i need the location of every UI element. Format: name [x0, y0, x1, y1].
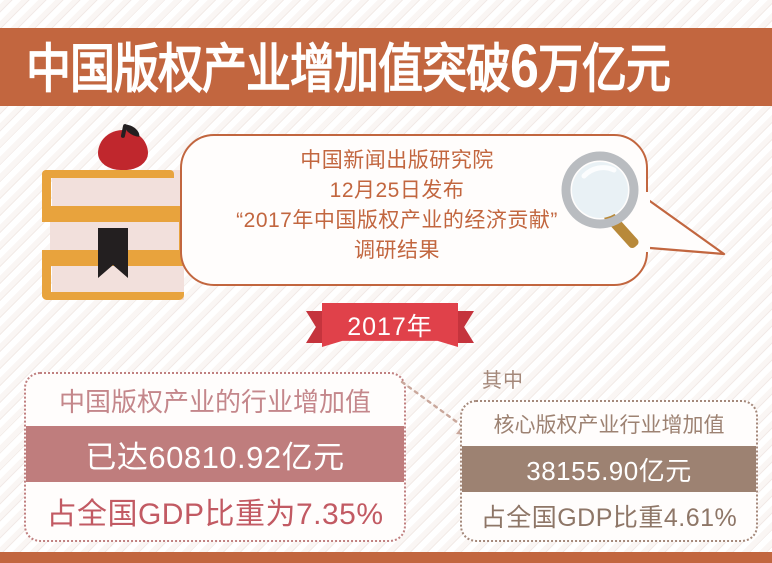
year-ribbon: 2017年	[306, 303, 474, 355]
bubble-line-2: 12月25日发布	[182, 176, 612, 206]
page-title: 中国版权产业增加值突破6万亿元	[26, 36, 670, 97]
book-top	[42, 170, 192, 214]
title-number: 6	[510, 33, 538, 101]
card-total-copyright-industry: 中国版权产业的行业增加值 已达60810.92亿元 占全国GDP比重为7.35%	[24, 372, 406, 542]
bottom-bar	[0, 552, 772, 563]
card-left-value: 已达60810.92亿元	[26, 426, 404, 482]
stacked-books-illustration	[42, 124, 192, 300]
bubble-line-1: 中国新闻出版研究院	[182, 146, 612, 176]
card-right-gdp-share: 占全国GDP比重4.61%	[462, 492, 756, 540]
title-bar: 中国版权产业增加值突破6万亿元	[0, 28, 772, 106]
bubble-line-4: 调研结果	[182, 236, 612, 266]
title-prefix: 中国版权产业增加值突破	[26, 39, 510, 99]
book-spine-bottom	[42, 206, 182, 214]
title-suffix: 万亿元	[538, 39, 670, 99]
book-spine	[42, 170, 174, 178]
magnifier-icon	[556, 146, 662, 258]
card-left-gdp-share: 占全国GDP比重为7.35%	[26, 482, 404, 540]
bubble-text: 中国新闻出版研究院 12月25日发布 “2017年中国版权产业的经济贡献” 调研…	[182, 146, 612, 266]
card-right-heading: 核心版权产业行业增加值	[462, 402, 756, 446]
card-right-value: 38155.90亿元	[462, 446, 756, 492]
apple-icon	[98, 124, 148, 170]
card-left-heading: 中国版权产业的行业增加值	[26, 374, 404, 426]
book-spine	[42, 214, 188, 222]
card-core-copyright-industry: 核心版权产业行业增加值 38155.90亿元 占全国GDP比重4.61%	[460, 400, 758, 542]
infographic-canvas: 中国版权产业增加值突破6万亿元	[0, 0, 772, 563]
bubble-line-3: “2017年中国版权产业的经济贡献”	[182, 206, 612, 236]
book-spine-bottom	[42, 292, 184, 300]
ribbon-label: 2017年	[322, 305, 458, 345]
connector-label: 其中	[482, 364, 524, 393]
